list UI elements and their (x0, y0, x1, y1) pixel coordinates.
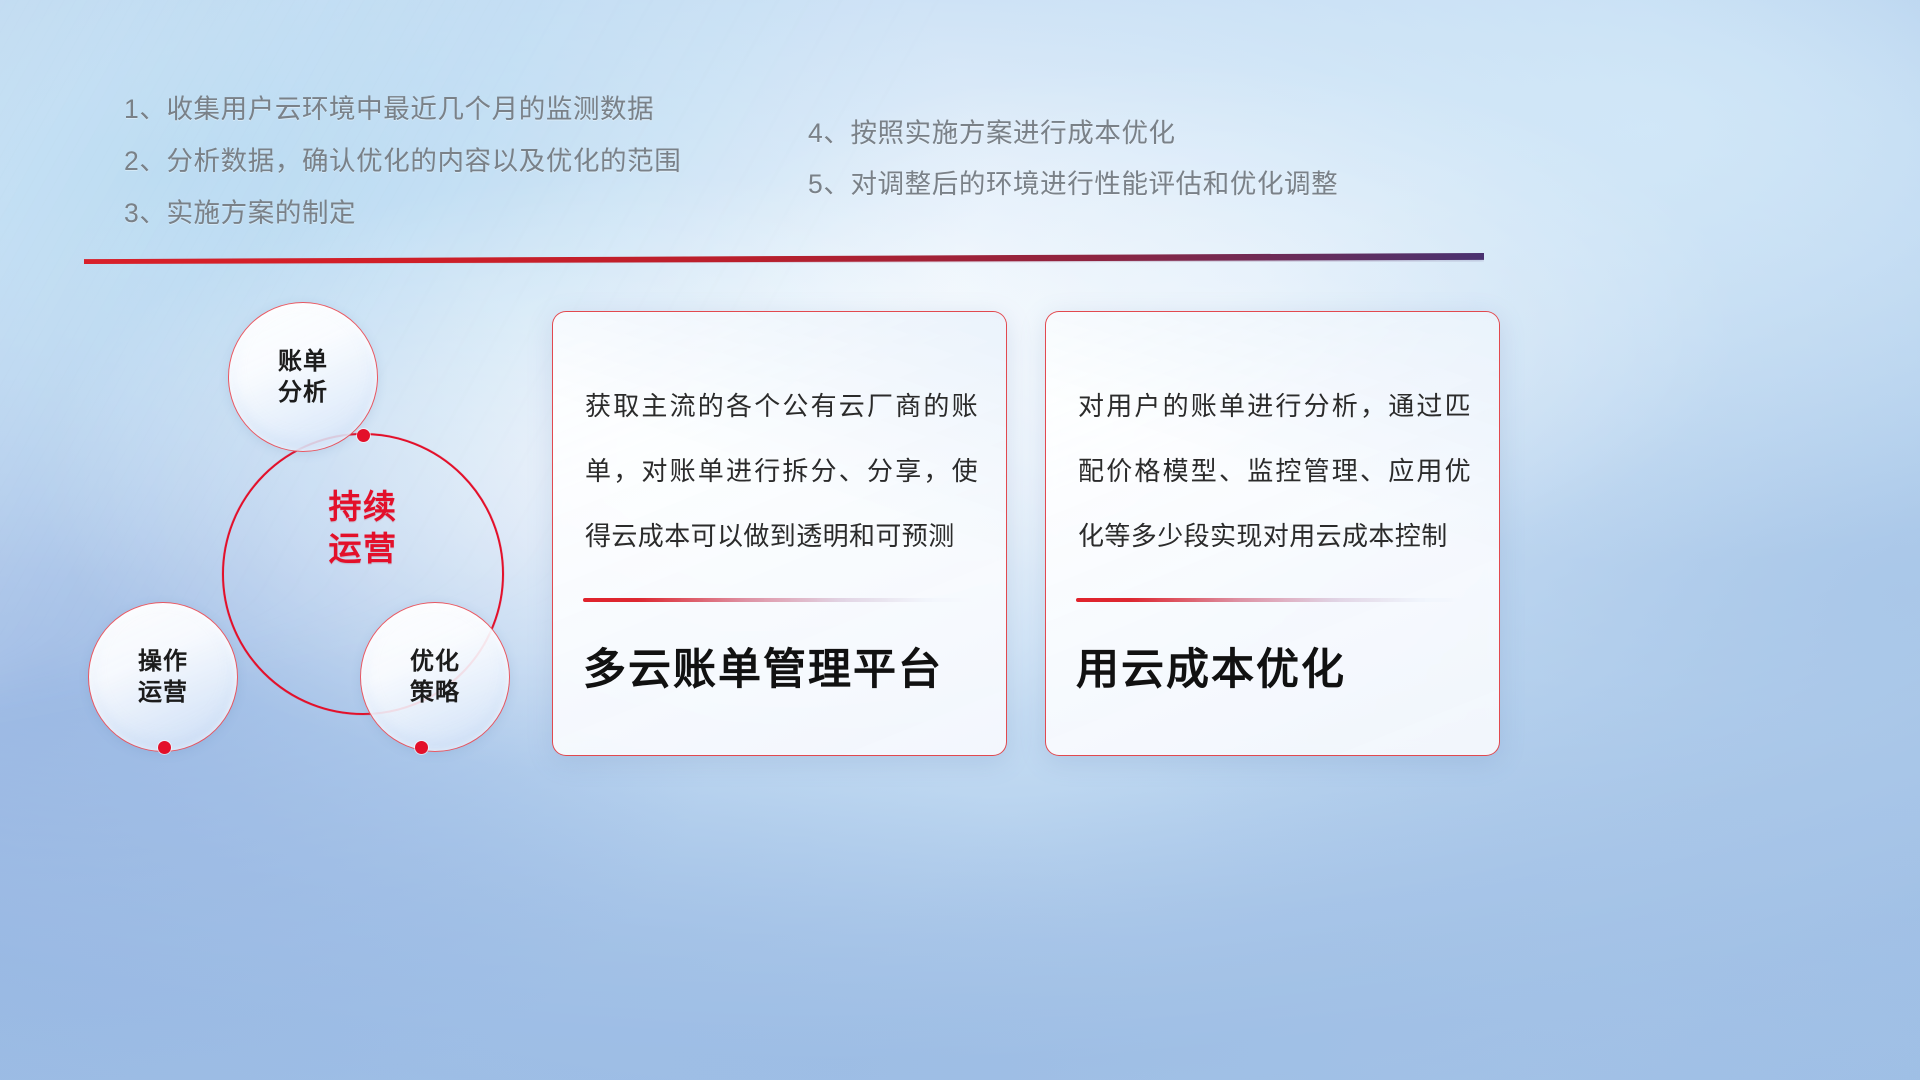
section-divider (84, 253, 1484, 264)
list-column-left: 1、收集用户云环境中最近几个月的监测数据 2、分析数据，确认优化的内容以及优化的… (124, 96, 681, 252)
venn-node-operation[interactable]: 操作 运营 (88, 602, 238, 752)
card-title: 多云账单管理平台 (583, 646, 943, 695)
venn-connector-dot-top (357, 429, 370, 442)
list-item: 2、分析数据，确认优化的内容以及优化的范围 (124, 148, 681, 175)
card-divider-rule (1076, 598, 1466, 602)
list-item-index: 2、 (124, 146, 166, 176)
list-item-index: 1、 (124, 94, 166, 124)
list-item-text: 按照实施方案进行成本优化 (850, 118, 1175, 148)
card-multi-cloud-billing-platform[interactable]: 获取主流的各个公有云厂商的账单，对账单进行拆分、分享，使得云成本可以做到透明和可… (552, 311, 1007, 756)
card-body-text: 对用户的账单进行分析，通过匹配价格模型、监控管理、应用优化等多少段实现对用云成本… (1078, 374, 1471, 569)
venn-node-billing-analysis[interactable]: 账单 分析 (228, 302, 378, 452)
list-item-index: 3、 (124, 198, 166, 228)
venn-node-label: 操作 运营 (138, 646, 188, 708)
card-cloud-cost-optimization[interactable]: 对用户的账单进行分析，通过匹配价格模型、监控管理、应用优化等多少段实现对用云成本… (1045, 311, 1500, 756)
venn-center-label: 持续 运营 (222, 486, 504, 570)
list-item-text: 分析数据，确认优化的内容以及优化的范围 (166, 146, 681, 176)
venn-diagram: 持续 运营 账单 分析 操作 运营 优化 策略 (70, 280, 540, 780)
list-item: 1、收集用户云环境中最近几个月的监测数据 (124, 96, 681, 123)
venn-connector-dot-bottom-right (415, 741, 428, 754)
list-item-text: 对调整后的环境进行性能评估和优化调整 (850, 169, 1338, 199)
venn-node-label: 优化 策略 (410, 646, 460, 708)
venn-node-label: 账单 分析 (278, 346, 328, 408)
venn-connector-dot-bottom-left (158, 741, 171, 754)
card-body-text: 获取主流的各个公有云厂商的账单，对账单进行拆分、分享，使得云成本可以做到透明和可… (585, 374, 978, 569)
feature-cards: 获取主流的各个公有云厂商的账单，对账单进行拆分、分享，使得云成本可以做到透明和可… (552, 311, 1852, 756)
list-item-index: 5、 (808, 169, 850, 199)
list-column-right: 4、按照实施方案进行成本优化 5、对调整后的环境进行性能评估和优化调整 (808, 120, 1338, 221)
list-item: 4、按照实施方案进行成本优化 (808, 120, 1338, 147)
list-item: 3、实施方案的制定 (124, 200, 681, 227)
card-title: 用云成本优化 (1076, 646, 1346, 695)
list-item-text: 收集用户云环境中最近几个月的监测数据 (166, 94, 654, 124)
card-divider-rule (583, 598, 973, 602)
top-lists: 1、收集用户云环境中最近几个月的监测数据 2、分析数据，确认优化的内容以及优化的… (0, 0, 1920, 270)
list-item-index: 4、 (808, 118, 850, 148)
venn-node-optimization-strategy[interactable]: 优化 策略 (360, 602, 510, 752)
list-item: 5、对调整后的环境进行性能评估和优化调整 (808, 171, 1338, 198)
list-item-text: 实施方案的制定 (166, 198, 356, 228)
